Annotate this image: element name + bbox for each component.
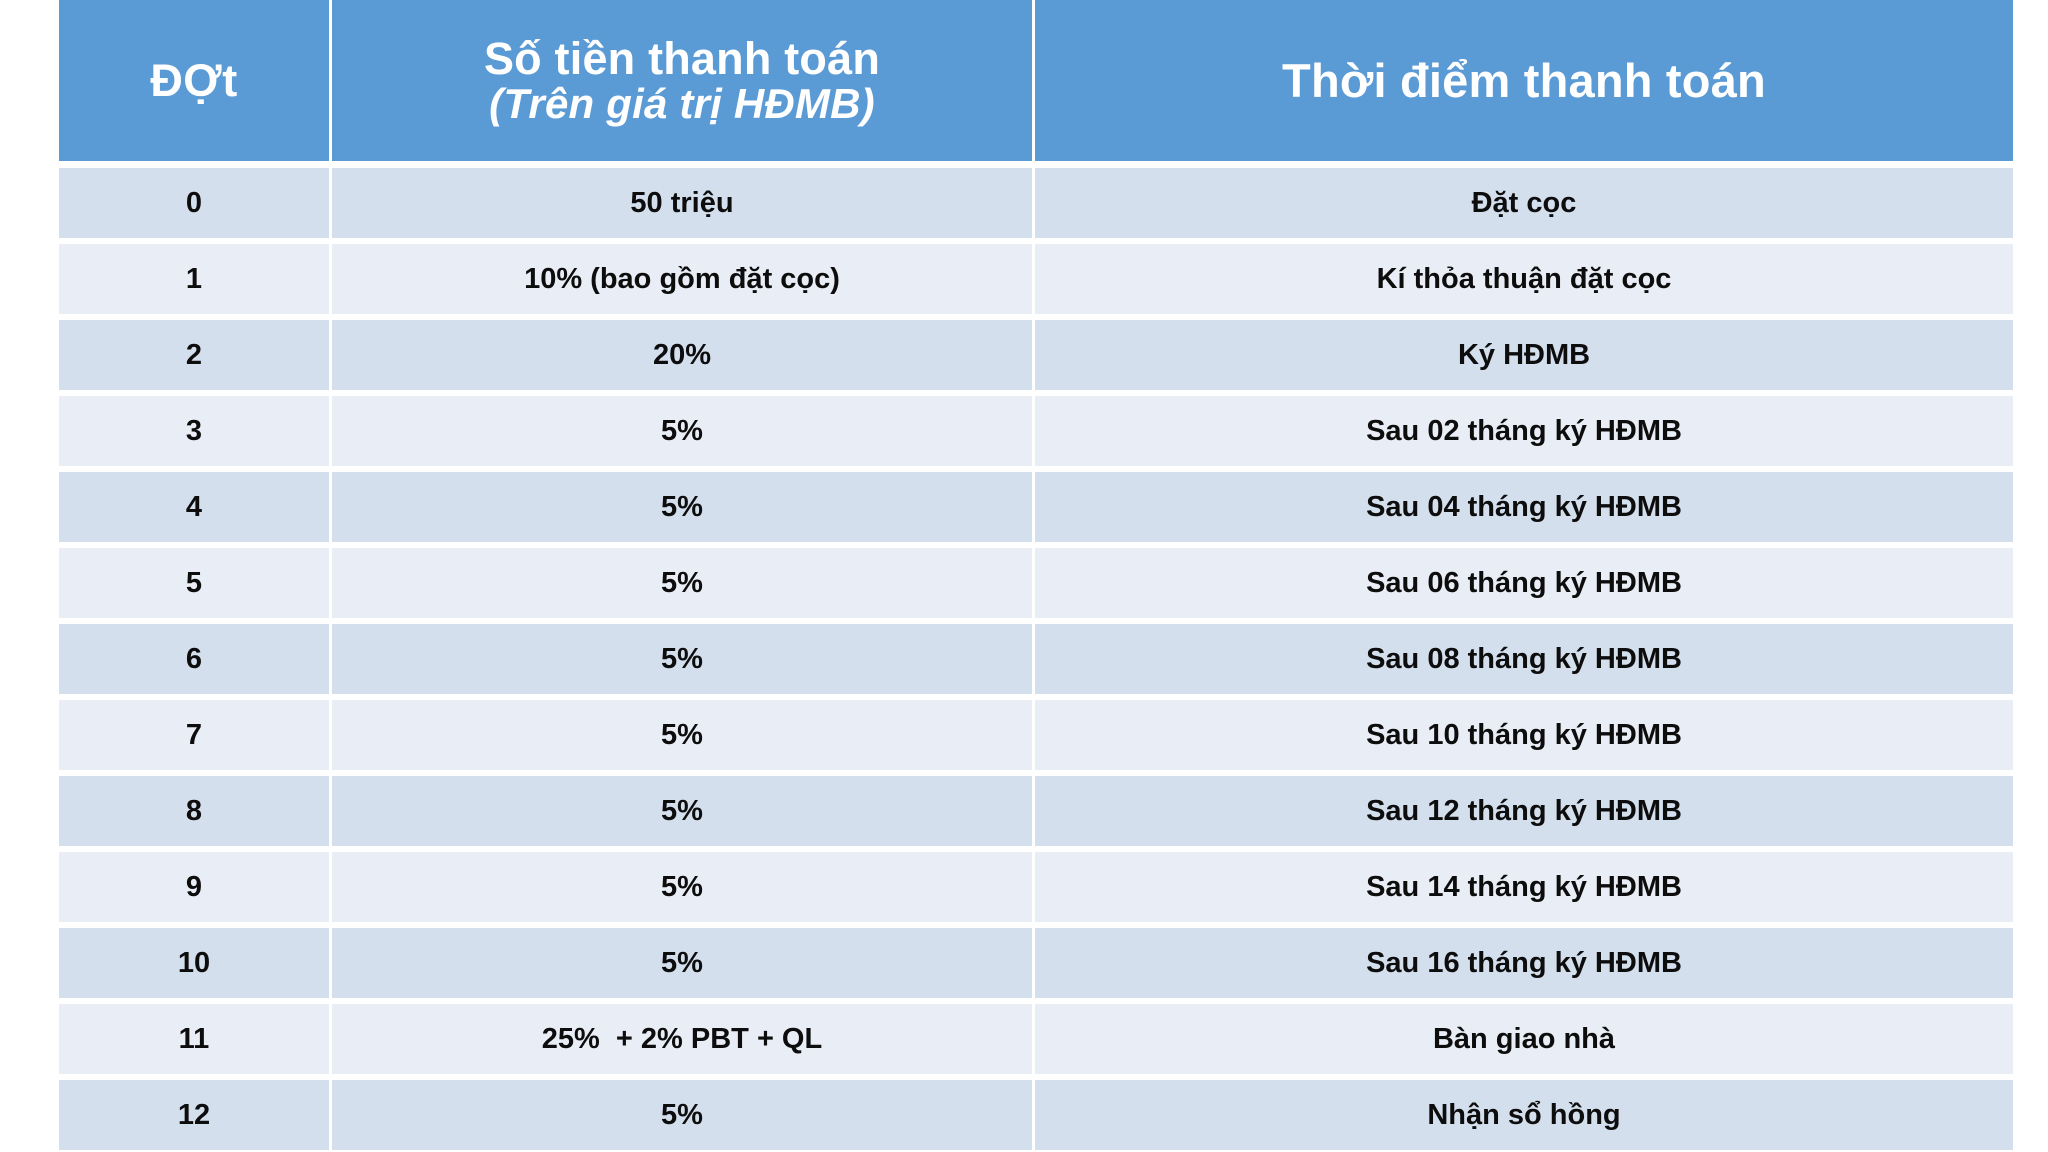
- row-cell-time: Sau 04 tháng ký HĐMB: [1035, 472, 2013, 548]
- row-cell-time: Đặt cọc: [1035, 168, 2013, 244]
- table-row: 105%Sau 16 tháng ký HĐMB: [59, 928, 2013, 1004]
- row-cell-dot: 7: [59, 700, 332, 776]
- row-cell-dot: 2: [59, 320, 332, 396]
- table-row: 85%Sau 12 tháng ký HĐMB: [59, 776, 2013, 852]
- table-row: 050 triệuĐặt cọc: [59, 168, 2013, 244]
- table-row: 75%Sau 10 tháng ký HĐMB: [59, 700, 2013, 776]
- table-header: ĐỢt Số tiền thanh toán (Trên giá trị HĐM…: [59, 0, 2013, 168]
- row-cell-dot: 4: [59, 472, 332, 548]
- row-cell-time: Sau 08 tháng ký HĐMB: [1035, 624, 2013, 700]
- row-cell-amount: 5%: [332, 928, 1035, 1004]
- row-cell-amount: 10% (bao gồm đặt cọc): [332, 244, 1035, 320]
- column-header-amount-sublabel: (Trên giá trị HĐMB): [332, 82, 1032, 125]
- row-cell-amount: 50 triệu: [332, 168, 1035, 244]
- row-cell-time: Sau 16 tháng ký HĐMB: [1035, 928, 2013, 1004]
- row-cell-time: Bàn giao nhà: [1035, 1004, 2013, 1080]
- table-body: 050 triệuĐặt cọc110% (bao gồm đặt cọc)Kí…: [59, 168, 2013, 1150]
- column-header-amount-label: Số tiền thanh toán: [332, 36, 1032, 82]
- row-cell-dot: 0: [59, 168, 332, 244]
- table-row: 110% (bao gồm đặt cọc)Kí thỏa thuận đặt …: [59, 244, 2013, 320]
- row-cell-amount: 5%: [332, 852, 1035, 928]
- column-header-dot-label: ĐỢt: [59, 56, 329, 106]
- table-row: 95%Sau 14 tháng ký HĐMB: [59, 852, 2013, 928]
- row-cell-amount: 5%: [332, 396, 1035, 472]
- page-root: ĐỢt Số tiền thanh toán (Trên giá trị HĐM…: [0, 0, 2048, 1152]
- row-cell-time: Sau 14 tháng ký HĐMB: [1035, 852, 2013, 928]
- row-cell-amount: 5%: [332, 548, 1035, 624]
- row-cell-time: Sau 12 tháng ký HĐMB: [1035, 776, 2013, 852]
- table-row: 35%Sau 02 tháng ký HĐMB: [59, 396, 2013, 472]
- row-cell-time: Nhận sổ hồng: [1035, 1080, 2013, 1150]
- table-row: 55%Sau 06 tháng ký HĐMB: [59, 548, 2013, 624]
- row-cell-amount: 5%: [332, 700, 1035, 776]
- column-header-time-label: Thời điểm thanh toán: [1035, 55, 2013, 107]
- row-cell-time: Sau 02 tháng ký HĐMB: [1035, 396, 2013, 472]
- row-cell-amount: 5%: [332, 1080, 1035, 1150]
- column-header-dot: ĐỢt: [59, 0, 332, 168]
- row-cell-time: Sau 06 tháng ký HĐMB: [1035, 548, 2013, 624]
- row-cell-amount: 20%: [332, 320, 1035, 396]
- column-header-amount: Số tiền thanh toán (Trên giá trị HĐMB): [332, 0, 1035, 168]
- table-row: 220%Ký HĐMB: [59, 320, 2013, 396]
- row-cell-time: Kí thỏa thuận đặt cọc: [1035, 244, 2013, 320]
- row-cell-dot: 6: [59, 624, 332, 700]
- row-cell-dot: 1: [59, 244, 332, 320]
- row-cell-dot: 5: [59, 548, 332, 624]
- table-row: 65%Sau 08 tháng ký HĐMB: [59, 624, 2013, 700]
- column-header-time: Thời điểm thanh toán: [1035, 0, 2013, 168]
- row-cell-amount: 5%: [332, 776, 1035, 852]
- row-cell-amount: 25% + 2% PBT + QL: [332, 1004, 1035, 1080]
- row-cell-dot: 11: [59, 1004, 332, 1080]
- table-row: 45%Sau 04 tháng ký HĐMB: [59, 472, 2013, 548]
- table-row: 125%Nhận sổ hồng: [59, 1080, 2013, 1150]
- row-cell-amount: 5%: [332, 624, 1035, 700]
- row-cell-time: Sau 10 tháng ký HĐMB: [1035, 700, 2013, 776]
- table-row: 1125% + 2% PBT + QLBàn giao nhà: [59, 1004, 2013, 1080]
- row-cell-dot: 8: [59, 776, 332, 852]
- header-row: ĐỢt Số tiền thanh toán (Trên giá trị HĐM…: [59, 0, 2013, 168]
- row-cell-dot: 10: [59, 928, 332, 1004]
- row-cell-dot: 12: [59, 1080, 332, 1150]
- row-cell-amount: 5%: [332, 472, 1035, 548]
- row-cell-dot: 3: [59, 396, 332, 472]
- row-cell-time: Ký HĐMB: [1035, 320, 2013, 396]
- payment-schedule-table: ĐỢt Số tiền thanh toán (Trên giá trị HĐM…: [59, 0, 2013, 1150]
- row-cell-dot: 9: [59, 852, 332, 928]
